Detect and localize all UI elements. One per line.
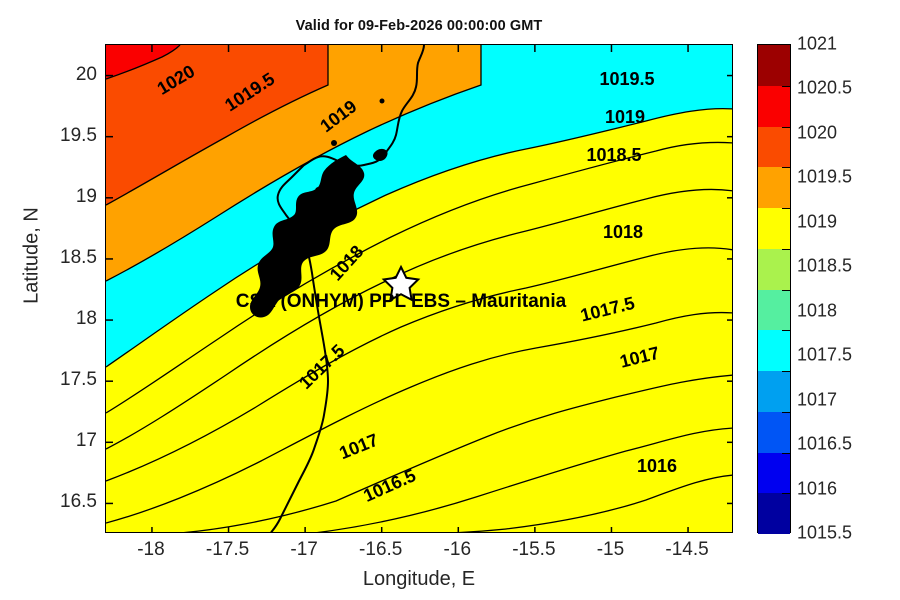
x-tick-label: -18	[137, 539, 164, 561]
colorbar-band	[758, 249, 790, 290]
colorbar-tick-label: 1018	[797, 300, 837, 321]
colorbar-tick-label: 1020.5	[797, 78, 852, 99]
colorbar-tick-label: 1019	[797, 211, 837, 232]
colorbar-tick-mark	[782, 208, 790, 209]
contour-label: 1019.5	[599, 69, 654, 89]
colorbar-band	[758, 45, 790, 86]
colorbar-band	[758, 127, 790, 168]
colorbar-tick-mark	[782, 330, 790, 331]
colorbar-tick-label: 1017.5	[797, 345, 852, 366]
colorbar-band	[758, 167, 790, 208]
contour-field: 10201019.510191018.510181017.510171016.5…	[106, 45, 733, 533]
colorbar-tick-mark	[782, 412, 790, 413]
y-tick-label: 19.5	[60, 125, 97, 147]
colorbar-tick-label: 1018.5	[797, 256, 852, 277]
x-tick-label: -17.5	[206, 539, 249, 561]
colorbar-band	[758, 290, 790, 331]
y-tick-label: 20	[76, 64, 97, 86]
y-tick-label: 19	[76, 186, 97, 208]
colorbar-tick-label: 1019.5	[797, 167, 852, 188]
colorbar-tick-mark	[782, 127, 790, 128]
y-axis-title: Latitude, N	[21, 126, 44, 386]
x-tick-label: -16.5	[359, 539, 402, 561]
colorbar-tick-mark	[782, 249, 790, 250]
x-tick-label: -16	[444, 539, 471, 561]
colorbar-tick-mark	[782, 167, 790, 168]
contour-label: 1019	[605, 107, 645, 127]
colorbar-band	[758, 330, 790, 371]
colorbar-band	[758, 493, 790, 534]
site-label: CSA (ONHYM) PPL EBS – Mauritania	[236, 291, 567, 312]
contour-label: 1018	[603, 222, 643, 242]
y-tick-label: 16.5	[60, 491, 97, 513]
y-axis-tick-labels: 2019.51918.51817.51716.5	[0, 44, 97, 533]
colorbar-tick-labels: 10211020.510201019.510191018.510181017.5…	[797, 44, 897, 533]
colorbar[interactable]	[757, 44, 791, 533]
x-tick-label: -17	[290, 539, 317, 561]
contour-plot[interactable]: 10201019.510191018.510181017.510171016.5…	[105, 44, 733, 533]
colorbar-tick-mark	[782, 86, 790, 87]
colorbar-tick-mark	[782, 371, 790, 372]
colorbar-band	[758, 208, 790, 249]
contour-label: 1016	[637, 456, 677, 476]
x-tick-label: -14.5	[665, 539, 708, 561]
y-tick-label: 17.5	[60, 369, 97, 391]
y-tick-label: 18.5	[60, 247, 97, 269]
colorbar-band	[758, 371, 790, 412]
colorbar-tick-label: 1016.5	[797, 434, 852, 455]
y-tick-label: 18	[76, 308, 97, 330]
colorbar-tick-label: 1017	[797, 389, 837, 410]
colorbar-band	[758, 86, 790, 127]
colorbar-tick-mark	[782, 493, 790, 494]
contour-label: 1018.5	[586, 145, 641, 165]
colorbar-tick-mark	[782, 290, 790, 291]
x-tick-label: -15	[597, 539, 624, 561]
colorbar-tick-label: 1016	[797, 478, 837, 499]
y-tick-label: 17	[76, 430, 97, 452]
x-axis-tick-labels: -18-17.5-17-16.5-16-15.5-15-14.5	[105, 539, 733, 567]
colorbar-band	[758, 453, 790, 494]
page-title: Valid for 09-Feb-2026 00:00:00 GMT	[105, 18, 733, 34]
x-tick-label: -15.5	[512, 539, 555, 561]
x-axis-title: Longitude, E	[105, 568, 733, 591]
colorbar-band	[758, 412, 790, 453]
colorbar-tick-label: 1021	[797, 34, 837, 55]
colorbar-tick-mark	[782, 453, 790, 454]
colorbar-tick-label: 1015.5	[797, 523, 852, 544]
colorbar-tick-label: 1020	[797, 122, 837, 143]
